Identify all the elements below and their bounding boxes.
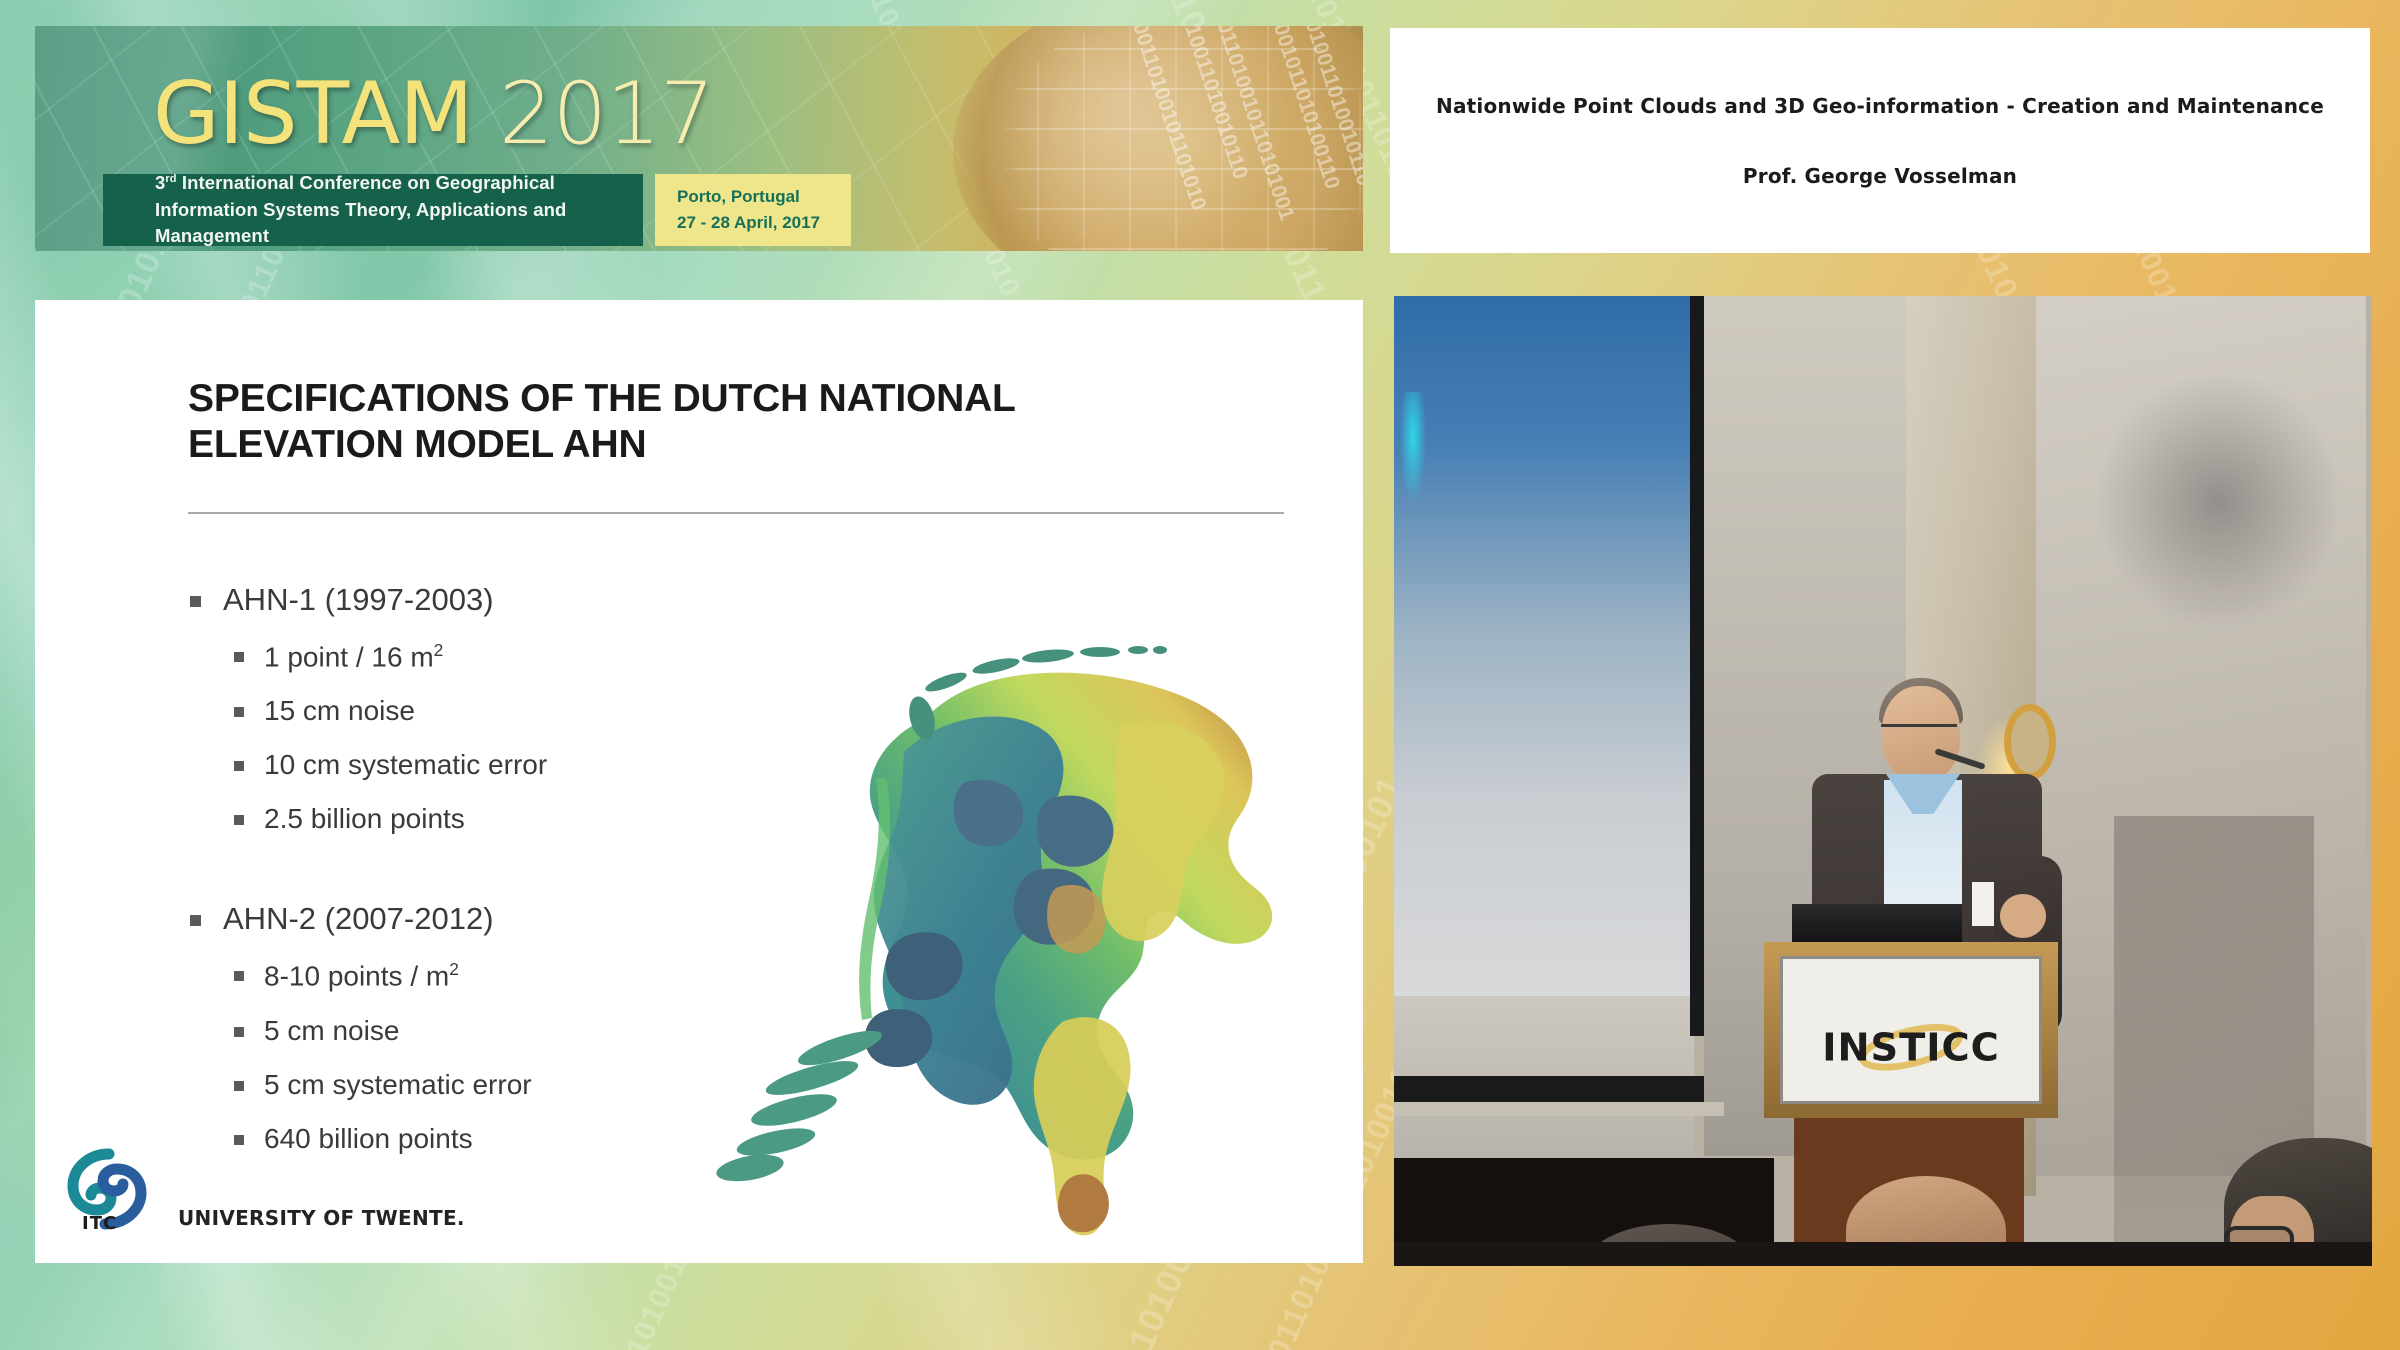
- sub-bullet-text: 5 cm systematic error: [264, 1069, 532, 1101]
- projection-screen-bottom-bar: [1394, 1076, 1704, 1102]
- conference-venue-box: Porto, Portugal 27 - 28 April, 2017: [655, 174, 851, 246]
- slide-divider: [188, 512, 1284, 514]
- talk-title-card: Nationwide Point Clouds and 3D Geo-infor…: [1390, 28, 2370, 253]
- conference-name: GISTAM: [153, 64, 472, 164]
- bullet-square-icon: [190, 596, 201, 607]
- sub-bullet-text: 10 cm systematic error: [264, 749, 547, 781]
- projection-screen-rail: [1394, 1102, 1724, 1116]
- slide-title: SPECIFICATIONS OF THE DUTCH NATIONALELEV…: [188, 376, 1128, 468]
- sub-bullet-text: 2.5 billion points: [264, 803, 465, 835]
- bullet-square-icon: [234, 1027, 244, 1037]
- sub-bullet-text: 15 cm noise: [264, 695, 415, 727]
- netherlands-elevation-map: [690, 570, 1300, 1240]
- itc-logo-text: ITC: [82, 1213, 117, 1234]
- bullet-square-icon: [234, 761, 244, 771]
- photo-floor: [1394, 1242, 2372, 1266]
- conference-title: GISTAM 2017: [153, 64, 714, 164]
- podium-logo-text: INSTICC: [1822, 1026, 1999, 1071]
- conference-subtitle-bar: 3rd International Conference on Geograph…: [103, 174, 643, 246]
- bullet-square-icon: [234, 815, 244, 825]
- bullet-square-icon: [234, 707, 244, 717]
- conference-subtitle-line1: 3rd International Conference on Geograph…: [155, 170, 643, 197]
- projection-screen-highlight: [1400, 392, 1426, 502]
- gistam-conference-banner: 10100110100101101010 0110101001101001011…: [35, 26, 1363, 251]
- sub-bullet-text: 1 point / 16 m2: [264, 640, 443, 673]
- bullet-square-icon: [234, 971, 244, 981]
- sub-bullet-text: 8-10 points / m2: [264, 959, 459, 992]
- university-footer-text: UNIVERSITY OF TWENTE.: [178, 1206, 465, 1230]
- talk-speaker: Prof. George Vosselman: [1743, 164, 2017, 188]
- podium-sign: INSTICC: [1780, 956, 2042, 1104]
- venue-city: Porto, Portugal: [677, 184, 851, 210]
- podium-laptop: [1792, 904, 1962, 944]
- speaker-glasses-icon: [1881, 724, 1957, 736]
- bullet-label: AHN-1 (1997-2003): [223, 582, 494, 618]
- speaker-hand: [2000, 894, 2046, 938]
- sub-bullet-text: 5 cm noise: [264, 1015, 399, 1047]
- conference-year: 2017: [499, 64, 714, 164]
- speaker-photo: INSTICC: [1394, 296, 2372, 1266]
- bullet-square-icon: [234, 652, 244, 662]
- projection-screen: [1394, 296, 1694, 996]
- wall-sconce-icon: [2004, 704, 2056, 780]
- talk-title: Nationwide Point Clouds and 3D Geo-infor…: [1436, 94, 2324, 118]
- bullet-label: AHN-2 (2007-2012): [223, 901, 494, 937]
- photo-wall-shadow: [2094, 356, 2344, 646]
- screenshot-root: 1010011010010110101001 01101010011010010…: [0, 0, 2400, 1350]
- banner-binary-digits: 10100110100101101010 0110101001101001011…: [1123, 26, 1363, 251]
- projection-screen-frame: [1690, 296, 1704, 1036]
- bullet-square-icon: [190, 915, 201, 926]
- bullet-square-icon: [234, 1135, 244, 1145]
- venue-dates: 27 - 28 April, 2017: [677, 210, 851, 236]
- conference-subtitle-line2: Information Systems Theory, Applications…: [155, 197, 643, 251]
- bullet-square-icon: [234, 1081, 244, 1091]
- sub-bullet-text: 640 billion points: [264, 1123, 473, 1155]
- subtitle-line1-text: 3rd International Conference on Geograph…: [155, 172, 555, 193]
